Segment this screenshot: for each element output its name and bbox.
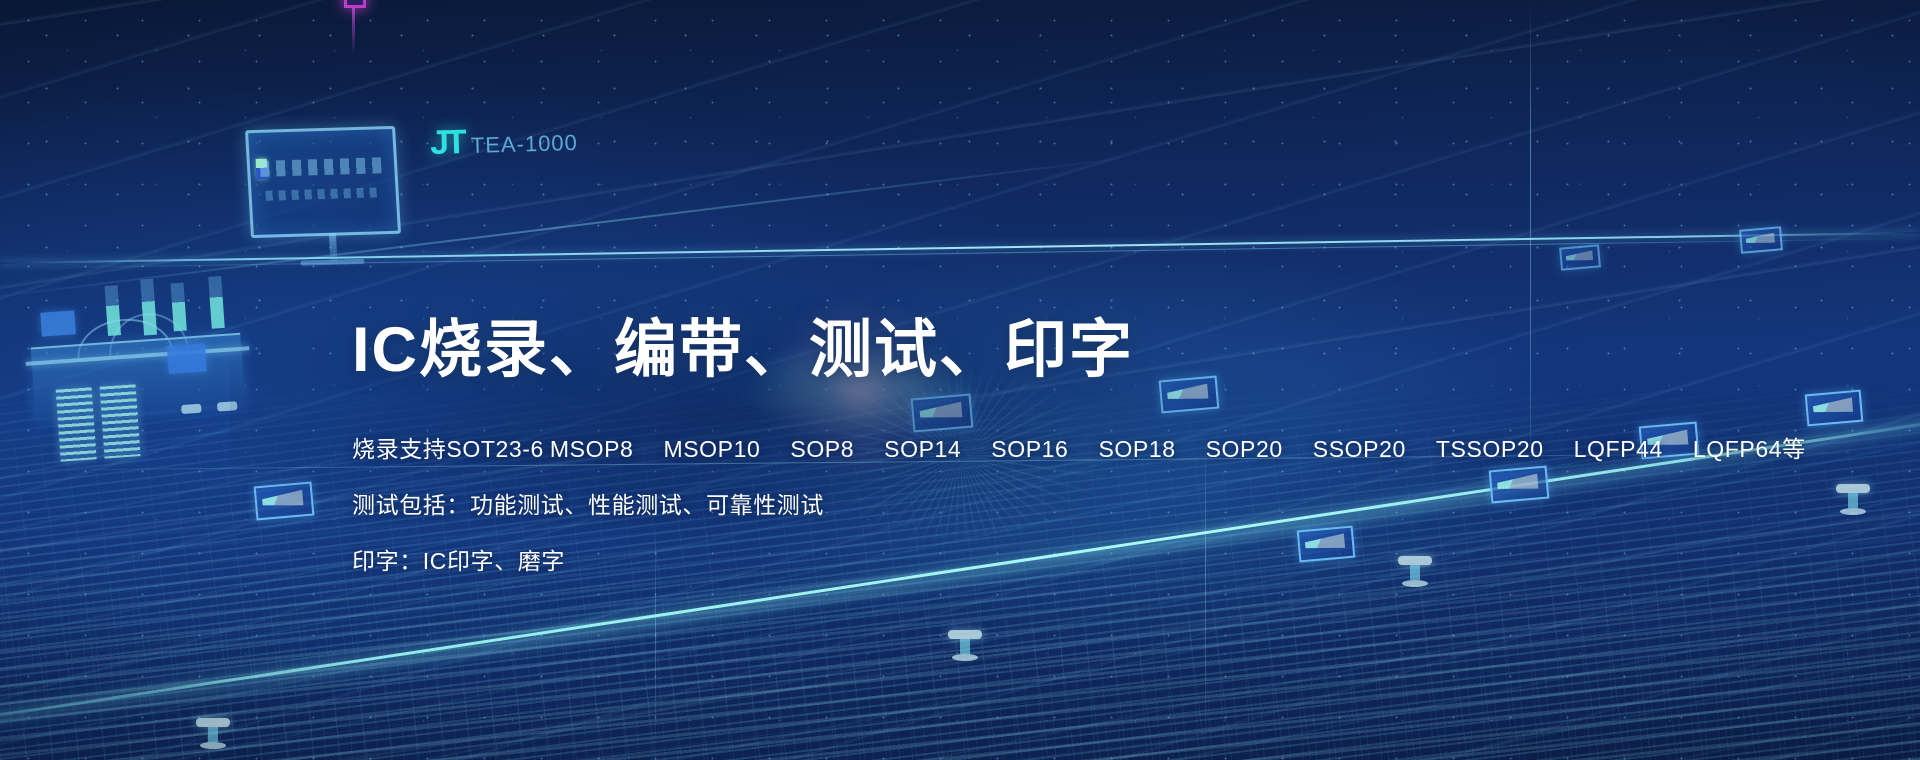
- package-chip-label: SOP18: [1098, 436, 1175, 463]
- package-chip-label: SOP16: [991, 436, 1068, 463]
- burn-in-package-line: 烧录支持SOT23-6 MSOP8 MSOP10 SOP8 SOP14 SOP1…: [352, 430, 1592, 464]
- package-chip-label: LQFP64等: [1693, 430, 1806, 464]
- package-chip-label: SOP14: [884, 436, 961, 463]
- marking-scope-line: 印字：IC印字、磨字: [352, 542, 1592, 576]
- package-chip-label: LQFP44: [1574, 436, 1663, 463]
- hero-headline: IC烧录、编带、测试、印字: [352, 316, 1592, 384]
- package-chip-label: SOP8: [790, 436, 854, 463]
- hero-copy-block: IC烧录、编带、测试、印字 烧录支持SOT23-6 MSOP8 MSOP10 S…: [352, 316, 1592, 576]
- testing-scope-line: 测试包括：功能测试、性能测试、可靠性测试: [352, 486, 1592, 520]
- package-chip-label: SSOP20: [1313, 436, 1406, 463]
- burn-in-lead-label: 烧录支持SOT23-6: [352, 430, 544, 464]
- package-chip-label: TSSOP20: [1436, 436, 1544, 463]
- ic-service-hero-banner: JT TEA-1000: [0, 0, 1920, 760]
- package-chip-label: MSOP10: [663, 436, 760, 463]
- package-chip-label: MSOP8: [550, 436, 634, 463]
- hero-detail-lines: 烧录支持SOT23-6 MSOP8 MSOP10 SOP8 SOP14 SOP1…: [352, 430, 1592, 576]
- package-chip-label: SOP20: [1206, 436, 1283, 463]
